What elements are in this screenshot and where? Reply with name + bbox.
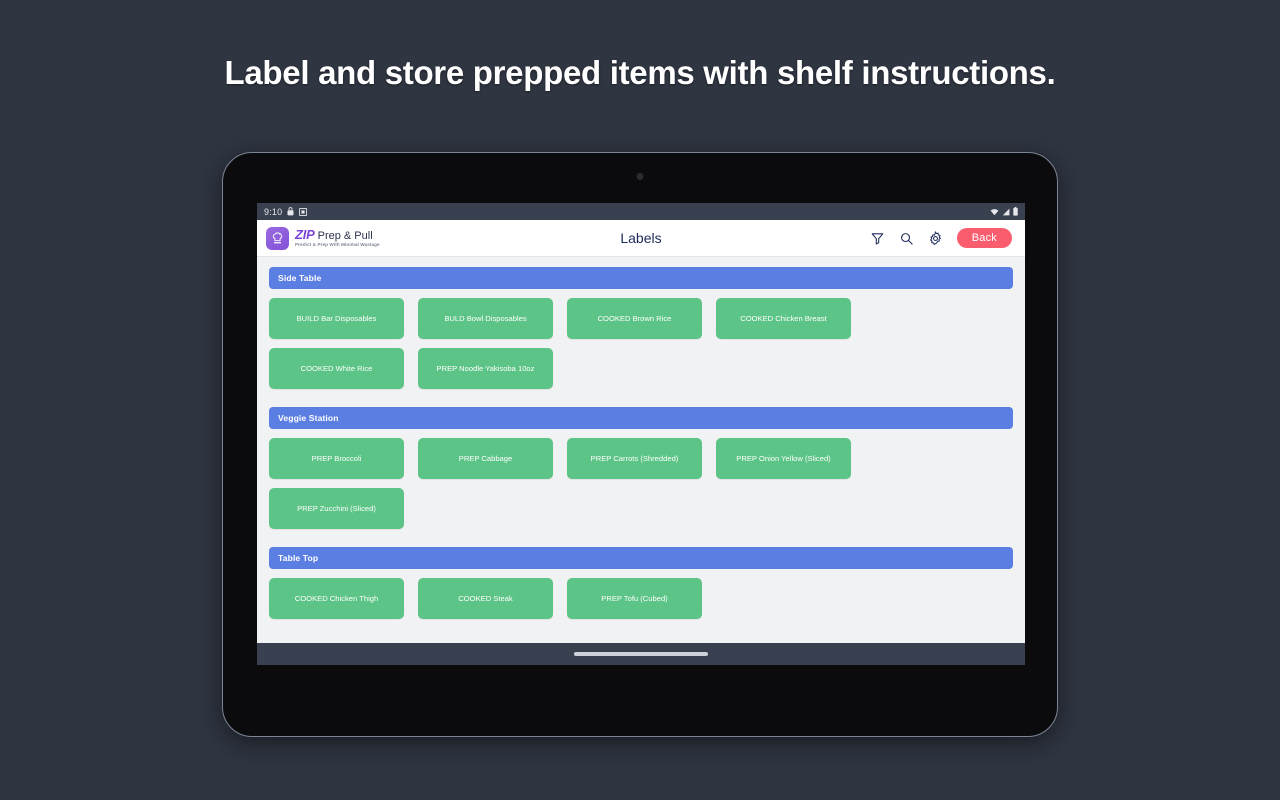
label-chip[interactable]: COOKED Steak — [418, 578, 553, 619]
wifi-icon — [990, 208, 999, 216]
battery-icon — [1013, 207, 1018, 216]
signal-icon — [1002, 208, 1010, 216]
brand-text: ZIP Prep & Pull Predict & Prep With Mini… — [295, 228, 380, 248]
device-screen: 9:10 — [257, 203, 1025, 643]
appbar-actions: Back — [870, 228, 1012, 248]
chip-row-side-table: BUILD Bar Disposables BULD Bowl Disposab… — [269, 298, 1013, 398]
lock-icon — [287, 207, 294, 216]
label-chip[interactable]: COOKED Chicken Breast — [716, 298, 851, 339]
label-chip[interactable]: PREP Onion Yellow (Sliced) — [716, 438, 851, 479]
page-title: Label and store prepped items with shelf… — [0, 54, 1280, 92]
home-indicator[interactable] — [574, 652, 708, 656]
section-header-veggie-station: Veggie Station — [269, 407, 1013, 429]
label-chip[interactable]: PREP Tofu (Cubed) — [567, 578, 702, 619]
android-status-bar: 9:10 — [257, 203, 1025, 220]
label-chip[interactable]: BUILD Bar Disposables — [269, 298, 404, 339]
labels-content: Side Table BUILD Bar Disposables BULD Bo… — [257, 257, 1025, 643]
label-chip[interactable]: PREP Cabbage — [418, 438, 553, 479]
brand-tagline: Predict & Prep With Minimal Wastage — [295, 243, 380, 248]
chip-row-table-top: COOKED Chicken Thigh COOKED Steak PREP T… — [269, 578, 1013, 628]
status-bar-right — [990, 207, 1018, 216]
label-chip[interactable]: COOKED Chicken Thigh — [269, 578, 404, 619]
filter-icon[interactable] — [870, 231, 885, 246]
chip-row-veggie-station: PREP Broccoli PREP Cabbage PREP Carrots … — [269, 438, 1013, 538]
label-chip[interactable]: PREP Broccoli — [269, 438, 404, 479]
label-chip[interactable]: PREP Noodle Yakisoba 10oz — [418, 348, 553, 389]
gear-icon[interactable] — [928, 231, 943, 246]
chef-hat-icon — [266, 227, 289, 250]
app-brand: ZIP Prep & Pull Predict & Prep With Mini… — [266, 227, 380, 250]
tablet-device-frame: 9:10 — [222, 152, 1058, 737]
status-bar-left: 9:10 — [264, 207, 307, 217]
brand-name: Prep & Pull — [318, 231, 373, 243]
app-header: ZIP Prep & Pull Predict & Prep With Mini… — [257, 220, 1025, 257]
label-chip[interactable]: COOKED Brown Rice — [567, 298, 702, 339]
label-chip[interactable]: PREP Zucchini (Sliced) — [269, 488, 404, 529]
sd-card-icon — [299, 208, 307, 216]
back-button[interactable]: Back — [957, 228, 1012, 248]
android-nav-bar — [257, 643, 1025, 665]
status-clock: 9:10 — [264, 207, 282, 217]
front-camera-icon — [637, 173, 644, 180]
label-chip[interactable]: COOKED White Rice — [269, 348, 404, 389]
brand-zip: ZIP — [295, 228, 315, 242]
label-chip[interactable]: PREP Carrots (Shredded) — [567, 438, 702, 479]
label-chip[interactable]: BULD Bowl Disposables — [418, 298, 553, 339]
section-header-side-table: Side Table — [269, 267, 1013, 289]
search-icon[interactable] — [899, 231, 914, 246]
section-header-table-top: Table Top — [269, 547, 1013, 569]
